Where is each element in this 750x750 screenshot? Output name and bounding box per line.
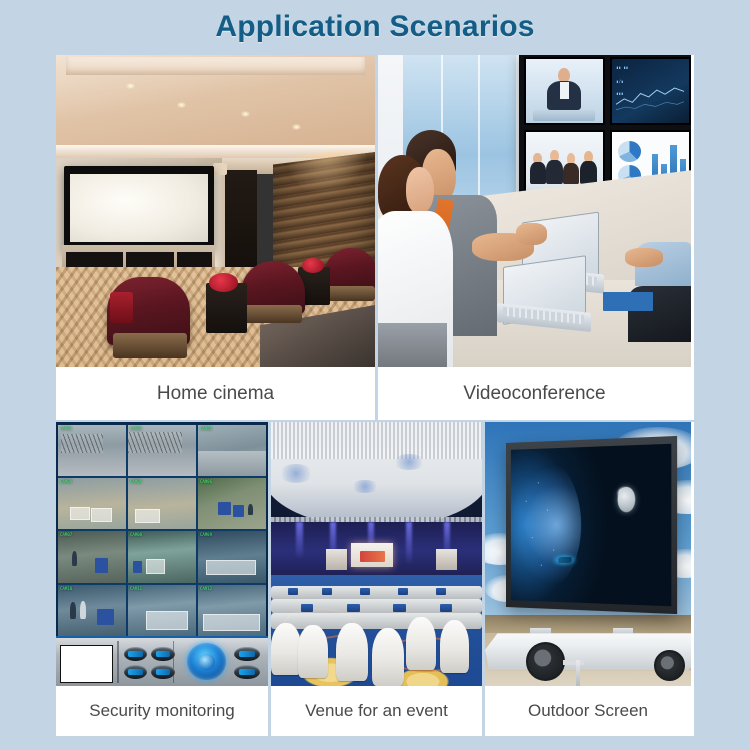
star (537, 482, 538, 483)
camera-tile: CAM05 (128, 478, 196, 529)
ceiling-downlight-icon (177, 102, 186, 108)
stacked-goods (146, 611, 189, 629)
chair-number-tag (347, 604, 360, 612)
stacked-goods (91, 508, 112, 522)
stacked-goods (70, 507, 90, 520)
chair-number-tag (288, 588, 299, 595)
stacked-goods (206, 560, 256, 575)
dvr-button[interactable] (151, 647, 174, 661)
ceiling-downlight-icon (292, 124, 301, 130)
ceiling-medallion (393, 454, 425, 470)
dvr-button[interactable] (234, 665, 259, 679)
banquet-chair (372, 628, 404, 686)
video-wall-screen-stock-data: ▮▮ ▮▮ ▮/▮ ▮▮▮ (610, 57, 691, 126)
dvr-navigation-dpad[interactable] (187, 643, 225, 680)
panel-divider (173, 641, 175, 683)
camera-timestamp: CAM09 (200, 532, 212, 537)
armchair-base (244, 305, 301, 324)
application-scenarios-page: Application Scenarios (0, 0, 750, 750)
venue-photo (271, 422, 482, 686)
camera-timestamp: CAM08 (130, 532, 142, 537)
dvr-display (60, 645, 113, 683)
camera-tile: CAM01 (58, 425, 126, 476)
star (525, 501, 526, 502)
camera-tile: CAM10 (58, 585, 126, 636)
crystal-chandelier (271, 422, 482, 459)
person-figure (248, 504, 253, 515)
camera-timestamp: CAM06 (200, 479, 212, 484)
scenario-card-security-monitoring[interactable]: CAM01 CAM02 CAM03 CAM04 (56, 422, 268, 736)
panel-divider (117, 641, 119, 683)
camera-tile: CAM07 (58, 531, 126, 582)
scenario-row-bottom: CAM01 CAM02 CAM03 CAM04 (56, 422, 694, 736)
chair-number-tag (436, 588, 447, 595)
person-figure (72, 551, 77, 566)
side-projection-screen (436, 549, 457, 570)
camera-tile: CAM09 (198, 531, 266, 582)
attendee-body (563, 163, 579, 184)
stacked-goods (146, 559, 166, 574)
document-folder (603, 292, 653, 311)
caption-venue: Venue for an event (271, 686, 482, 736)
side-projection-screen (326, 549, 347, 570)
scenario-card-outdoor-screen[interactable]: Outdoor Screen (482, 422, 691, 736)
chair-number-tag (360, 588, 371, 595)
gate-fence (61, 434, 103, 453)
page-title: Application Scenarios (0, 10, 750, 44)
camera-tile: CAM02 (128, 425, 196, 476)
attendee-body (530, 162, 545, 184)
camera-timestamp: CAM12 (200, 586, 212, 591)
trailer-wheel (526, 642, 565, 680)
home-cinema-photo (56, 55, 375, 367)
camera-timestamp: CAM05 (130, 479, 142, 484)
attendee-body (580, 161, 596, 184)
camera-timestamp: CAM11 (130, 586, 142, 591)
ceiling-inset (66, 57, 366, 75)
star (531, 537, 532, 538)
ceiling-medallion (351, 480, 378, 493)
camera-timestamp: CAM03 (200, 426, 212, 431)
led-screen-frame (506, 436, 677, 614)
camera-tile: CAM03 (198, 425, 266, 476)
camera-timestamp: CAM04 (60, 479, 72, 484)
chair-throw (110, 292, 132, 323)
stage-light-beam (296, 522, 302, 559)
dvr-button[interactable] (151, 665, 174, 679)
camera-timestamp: CAM02 (130, 426, 142, 431)
woman-trousers (378, 323, 447, 367)
blue-barrel (133, 561, 141, 573)
caption-home-cinema: Home cinema (56, 367, 375, 420)
scenario-row-top: Home cinema (56, 55, 694, 420)
person-figure (70, 602, 76, 619)
camera-tile: CAM04 (58, 478, 126, 529)
stage-screen-logo (360, 551, 385, 562)
camera-feed-grid: CAM01 CAM02 CAM03 CAM04 (58, 425, 266, 636)
chair-row (271, 586, 482, 599)
chair-number-tag (440, 604, 453, 612)
star (540, 565, 541, 566)
trailer-jack (576, 660, 580, 686)
presenter-shirt (560, 82, 569, 99)
scenario-card-venue[interactable]: Venue for an event (268, 422, 482, 736)
chair-number-tag (398, 588, 409, 595)
projection-screen (70, 174, 207, 243)
scenario-card-home-cinema[interactable]: Home cinema (56, 55, 375, 420)
dvr-button[interactable] (124, 647, 147, 661)
attendee-body (546, 160, 562, 185)
caption-videoconference: Videoconference (378, 367, 691, 420)
trailer-wheel (654, 650, 685, 680)
camera-timestamp: CAM07 (60, 532, 72, 537)
dvr-button[interactable] (124, 665, 147, 679)
caption-outdoor-screen: Outdoor Screen (485, 686, 691, 736)
led-screen-display (510, 443, 670, 606)
dpad-center-button[interactable] (198, 654, 215, 670)
ground-shadow-band (485, 615, 691, 633)
chair-number-tag (393, 604, 406, 612)
outdoor-screen-photo (485, 422, 691, 686)
banquet-chair (336, 623, 368, 681)
blue-barrel (218, 502, 230, 515)
banquet-chair (271, 623, 301, 676)
camera-timestamp: CAM10 (60, 586, 72, 591)
roadway (198, 451, 266, 476)
video-wall-screen-presenter (524, 57, 605, 126)
stock-line-chart-icon (616, 84, 684, 111)
gate-fence (128, 432, 182, 454)
pillar-capital (213, 163, 227, 175)
caption-security-monitoring: Security monitoring (56, 686, 268, 736)
person-figure (80, 601, 86, 619)
videoconference-photo: ▮▮ ▮▮ ▮/▮ ▮▮▮ (378, 55, 691, 367)
ceiling (56, 55, 375, 155)
attendee-right-hand (625, 248, 663, 267)
armchair-base (327, 286, 375, 302)
dvr-control-panel[interactable] (56, 636, 268, 686)
banquet-chair (440, 620, 470, 673)
star (553, 550, 554, 551)
camera-tile: CAM06 (198, 478, 266, 529)
chair-number-tag (322, 588, 333, 595)
blue-barrel (233, 505, 244, 517)
trailer-jack-bar (563, 660, 584, 665)
stacked-goods (135, 509, 160, 523)
star (547, 510, 548, 511)
woman-face (406, 167, 434, 214)
armchair-base (113, 333, 186, 358)
dvr-button[interactable] (234, 647, 259, 661)
ceiling-medallion (279, 464, 313, 482)
stage-light-beam (406, 522, 412, 564)
pie-chart-icon (618, 141, 641, 162)
scenario-card-videoconference[interactable]: ▮▮ ▮▮ ▮/▮ ▮▮▮ (375, 55, 691, 420)
flower-arrangement (209, 273, 238, 292)
banquet-chair (406, 617, 436, 670)
security-monitoring-photo: CAM01 CAM02 CAM03 CAM04 (56, 422, 268, 686)
moon (617, 486, 635, 512)
camera-tile: CAM12 (198, 585, 266, 636)
camera-timestamp: CAM01 (60, 426, 72, 431)
presenter-podium (533, 110, 595, 120)
earth-atmosphere-glow (510, 456, 581, 594)
man-hand (516, 223, 547, 245)
chair-number-tag (301, 604, 314, 612)
scenario-grid: Home cinema (56, 55, 694, 736)
camera-tile: CAM08 (128, 531, 196, 582)
blue-barrel (97, 609, 113, 624)
camera-tile: CAM11 (128, 585, 196, 636)
stacked-goods (203, 614, 259, 630)
banquet-chair (298, 625, 328, 678)
ticker-text: ▮▮ ▮▮ (616, 65, 628, 70)
blue-barrel (95, 558, 109, 573)
